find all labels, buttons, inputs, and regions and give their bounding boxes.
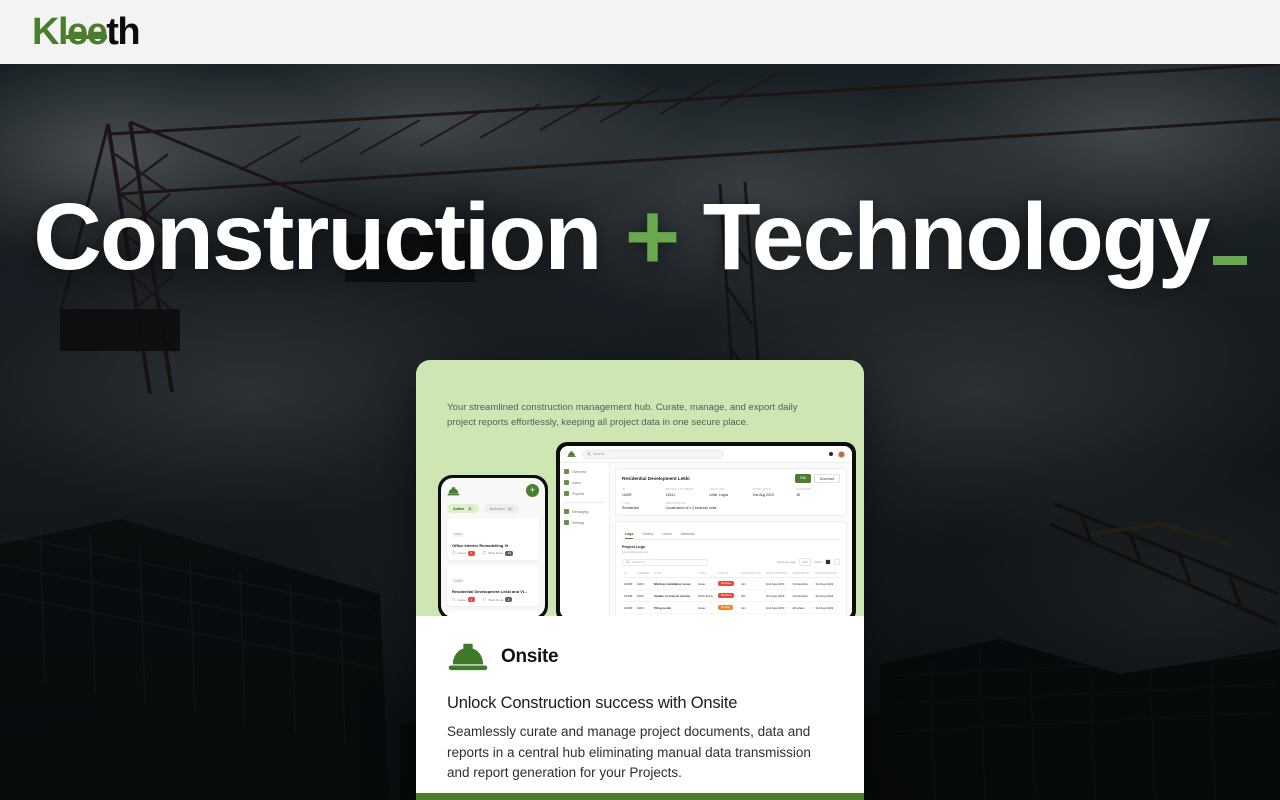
sidebar-item-overview[interactable]: Overview: [564, 469, 605, 474]
grid-view-icon[interactable]: [825, 559, 831, 565]
check-icon: [483, 551, 487, 555]
issues-count: 6: [468, 597, 475, 602]
project-id: 12003: [452, 578, 464, 583]
field-label: DURATION: [796, 488, 840, 491]
field-value: Residential: [622, 506, 666, 510]
list-item[interactable]: 12003 Commercial Development Yaba Issues…: [447, 611, 539, 616]
folder-icon: [564, 491, 569, 496]
avatar[interactable]: [838, 451, 845, 458]
tablet-main-content: Residential Development Lekki Edit Downl…: [610, 463, 852, 616]
tab-archived[interactable]: Archived 2: [484, 504, 519, 513]
field-value: Construction of x 3 bedroom units: [666, 506, 840, 510]
cell-number: 1003: [635, 602, 652, 614]
cell-created-by: Abraham: [791, 602, 814, 614]
cell-date-created: 2nd Aug 2023: [764, 590, 791, 602]
sidebar-item-projects[interactable]: Projects: [564, 491, 605, 496]
headline-part-2: Technology: [703, 184, 1209, 290]
cell-type: Issue: [696, 578, 716, 590]
project-field: DESCRIPTIONConstruction of x 3 bedroom u…: [666, 502, 840, 511]
phone-tabs: Active 3 Archived 2: [447, 504, 539, 513]
sidebar-label: Users: [572, 481, 581, 485]
col-id: ID: [622, 570, 635, 578]
table-row[interactable]: 10409 1003 Window installation issue Iss…: [622, 578, 840, 590]
sidebar-item-settings[interactable]: Settings: [564, 520, 605, 525]
tablet-search-input[interactable]: Search: [582, 450, 724, 459]
gear-icon: [564, 520, 569, 525]
col-number: NUMBER: [635, 570, 652, 578]
project-field: TYPEResidential: [622, 502, 666, 511]
tab-label: Archived: [490, 507, 505, 511]
home-icon: [564, 469, 569, 474]
project-id: 12003: [452, 532, 464, 537]
chat-icon: [564, 509, 569, 514]
field-value: Lekki, Lagos: [709, 493, 753, 497]
per-page-label: Items per page: [777, 560, 796, 564]
cell-title: Window installation issue: [652, 578, 696, 590]
tablet-topbar: Search: [560, 446, 852, 463]
work-label: Work Done: [488, 598, 503, 602]
col-status: STATUS: [716, 570, 740, 578]
cell-status: Pending: [716, 602, 740, 614]
check-icon: [483, 598, 487, 602]
card-blurb: Your streamlined construction management…: [447, 401, 819, 431]
col-date-created: DATE CREATED: [764, 570, 791, 578]
field-value: 10409: [622, 493, 666, 497]
project-field: ID10409: [622, 488, 666, 497]
logs-search-placeholder: Search for: [632, 560, 645, 564]
col-created-by: CREATED BY: [791, 570, 814, 578]
site-header: Kleeth: [0, 0, 1280, 64]
filters-button[interactable]: Filters: [814, 560, 822, 564]
card-description: Seamlessly curate and manage project doc…: [447, 722, 833, 784]
cell-title: Update on interior plumb...: [652, 590, 696, 602]
work-label: Work Done: [488, 551, 503, 555]
card-heading: Unlock Construction success with Onsite: [447, 694, 833, 713]
cell-id: 10409: [622, 578, 635, 590]
tab-gallery[interactable]: Gallery: [642, 532, 653, 539]
field-value: 36: [796, 493, 840, 497]
tablet-sidebar: Overview Users Projects: [560, 463, 610, 616]
sidebar-label: Messaging: [572, 510, 588, 514]
field-value: 12041: [666, 493, 710, 497]
brand-logo[interactable]: Kleeth: [32, 13, 139, 51]
cell-date-created: 2nd Aug 2023: [764, 578, 791, 590]
cell-date-updated: 3rd Aug 2023: [813, 578, 840, 590]
logs-subtitle: List of all project logs: [622, 550, 840, 554]
tab-users[interactable]: Users: [662, 532, 671, 539]
sidebar-label: Overview: [572, 470, 586, 474]
product-name: Onsite: [501, 646, 558, 668]
edit-button[interactable]: Edit: [795, 474, 811, 483]
hard-hat-icon: [447, 486, 460, 496]
cell-number: 1003: [635, 578, 652, 590]
status-badge: Not Done: [718, 593, 735, 598]
field-label: LOCATION: [709, 488, 753, 491]
sidebar-item-users[interactable]: Users: [564, 480, 605, 485]
users-icon: [564, 480, 569, 485]
product-brand-row: Onsite: [447, 641, 833, 672]
per-page-select[interactable]: 100: [799, 558, 812, 566]
logo-suffix: th: [106, 13, 139, 51]
tab-materials[interactable]: Materials: [681, 532, 695, 539]
sidebar-label: Projects: [572, 492, 584, 496]
field-label: TYPE: [622, 502, 666, 505]
project-title: Residential Development Lekki: [622, 476, 690, 481]
issues-meta: Issues 6: [452, 597, 475, 602]
list-item[interactable]: 12003 Residential Development Lekki and …: [447, 565, 539, 607]
cell-description: EC: [739, 590, 763, 602]
cell-status: Not Done: [716, 578, 740, 590]
cell-status: Not Done: [716, 590, 740, 602]
tab-active[interactable]: Active 3: [447, 504, 479, 513]
status-badge: Pending: [718, 605, 733, 610]
project-tabs: Logs Gallery Users Materials: [622, 532, 840, 540]
headline-part-1: Construction: [33, 184, 600, 290]
headline-plus: +: [625, 184, 678, 290]
work-done-meta: Work Done 10: [483, 551, 514, 556]
tab-label: Active: [453, 507, 464, 511]
logo-mid: ee: [67, 13, 106, 51]
cell-date-created: 2nd Aug 2023: [764, 602, 791, 614]
tablet-search-placeholder: Search: [593, 452, 604, 456]
cell-type: Issue: [696, 602, 716, 614]
project-field: PROJECT NUMBER12041: [666, 488, 710, 497]
project-detail-panel: Residential Development Lekki Edit Downl…: [615, 468, 847, 516]
issues-label: Issues: [458, 598, 467, 602]
sidebar-item-messaging[interactable]: Messaging: [564, 509, 605, 514]
logs-search-input[interactable]: Search for: [622, 559, 708, 566]
cell-created-by: Christopher: [791, 578, 814, 590]
cell-date-updated: 3rd Aug 2023: [813, 590, 840, 602]
cell-description: EC: [739, 578, 763, 590]
tablet-mockup: Search Overview: [556, 442, 856, 616]
work-count: 3: [505, 597, 512, 602]
project-field: START DATE2nd Aug 2023: [753, 488, 797, 497]
col-title: TITLE: [652, 570, 696, 578]
project-fields-row-2: TYPEResidential DESCRIPTIONConstruction …: [622, 502, 840, 511]
project-logs: Project Logs List of all project logs Se…: [622, 545, 840, 616]
card-accent-bar: [416, 793, 864, 800]
cell-id: 10409: [622, 602, 635, 614]
logs-table: ID NUMBER TITLE TYPE STATUS DESCRIPTION …: [622, 570, 840, 616]
project-field: LOCATIONLekki, Lagos: [709, 488, 753, 497]
list-view-icon[interactable]: [834, 559, 840, 565]
phone-topbar: +: [447, 484, 539, 497]
field-label: PROJECT NUMBER: [666, 488, 710, 491]
col-description: DESCRIPTION: [739, 570, 763, 578]
card-preview-area: Your streamlined construction management…: [416, 360, 864, 616]
headline-cursor: [1213, 256, 1247, 265]
cell-id: 10409: [622, 590, 635, 602]
issues-count: 4: [468, 551, 475, 556]
status-badge: Not Done: [718, 581, 735, 586]
table-header-row: ID NUMBER TITLE TYPE STATUS DESCRIPTION …: [622, 570, 840, 578]
project-name: Residential Development Lekki and VI...: [452, 589, 534, 594]
cell-date-updated: 3rd Aug 2023: [813, 602, 840, 614]
add-project-button[interactable]: +: [526, 484, 539, 497]
tab-logs[interactable]: Logs: [625, 532, 633, 539]
sidebar-label: Settings: [572, 521, 584, 525]
field-label: ID: [622, 488, 666, 491]
field-label: DESCRIPTION: [666, 502, 840, 505]
search-icon: [626, 560, 630, 564]
alert-icon: [452, 598, 456, 602]
work-done-meta: Work Done 3: [483, 597, 512, 602]
work-count: 10: [505, 551, 513, 556]
field-value: 2nd Aug 2023: [753, 493, 797, 497]
alert-icon: [452, 551, 456, 555]
hard-hat-icon: [567, 450, 576, 458]
tab-count: 3: [467, 507, 473, 511]
sidebar-divider: [564, 502, 605, 503]
phone-mockup: + Active 3 Archived 2 12003 Office Inter…: [438, 475, 548, 616]
cell-created-by: Christopher: [791, 590, 814, 602]
tab-count: 2: [507, 507, 513, 511]
issues-meta: Issues 4: [452, 551, 475, 556]
logs-panel: Logs Gallery Users Materials Project Log…: [615, 521, 847, 616]
notification-bell-icon[interactable]: [829, 452, 833, 456]
project-name: Office Interior Remodelling VI: [452, 543, 534, 548]
card-body: Onsite Unlock Construction success with …: [416, 616, 864, 800]
project-fields-row-1: ID10409 PROJECT NUMBER12041 LOCATIONLekk…: [622, 488, 840, 497]
download-button[interactable]: Download: [814, 474, 840, 483]
table-row[interactable]: 10409 1003 Update on interior plumb... W…: [622, 590, 840, 602]
hard-hat-icon: [447, 641, 489, 672]
onsite-feature-card[interactable]: Your streamlined construction management…: [416, 360, 864, 800]
cell-number: 1003: [635, 590, 652, 602]
search-icon: [587, 452, 591, 456]
col-date-updated: DATE UPDATED: [813, 570, 840, 578]
logo-prefix: Kl: [32, 13, 67, 51]
issues-label: Issues: [458, 551, 467, 555]
cell-title: Tiling works: [652, 602, 696, 614]
cell-description: EC: [739, 602, 763, 614]
cell-type: Work Done: [696, 590, 716, 602]
field-label: START DATE: [753, 488, 797, 491]
list-item[interactable]: 12003 Office Interior Remodelling VI Iss…: [447, 518, 539, 560]
table-row[interactable]: 10409 1003 Tiling works Issue Pending EC…: [622, 602, 840, 614]
logs-title: Project Logs: [622, 545, 840, 549]
hero-headline: Construction + Technology: [0, 188, 1280, 288]
col-type: TYPE: [696, 570, 716, 578]
project-field: DURATION36: [796, 488, 840, 497]
